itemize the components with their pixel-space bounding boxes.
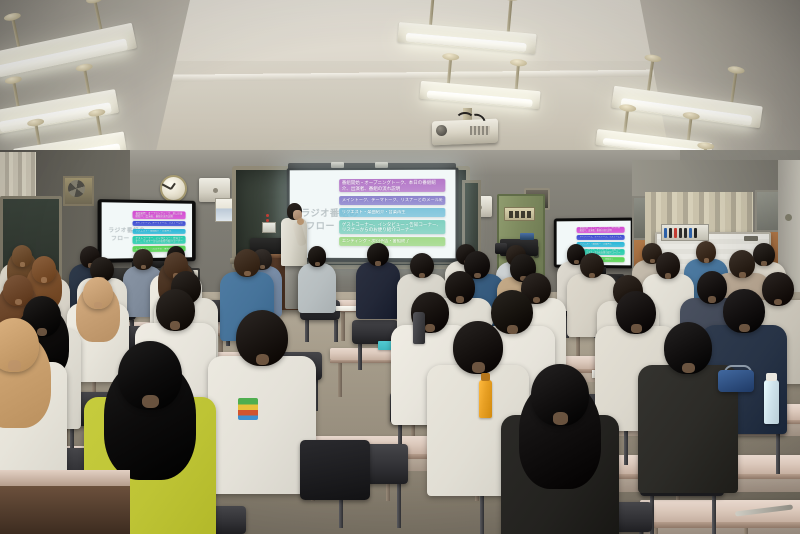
person-neck	[708, 296, 716, 303]
foreground-desk-edge	[0, 470, 130, 486]
chair-leg	[358, 344, 362, 370]
person-neck	[631, 324, 641, 333]
backpack	[300, 440, 370, 500]
person-neck	[94, 302, 102, 308]
person-neck	[425, 324, 435, 332]
person-neck	[20, 262, 25, 266]
person-neck	[315, 262, 320, 266]
desk-leg	[338, 360, 342, 397]
chair-leg	[624, 428, 628, 465]
person-neck	[665, 273, 671, 278]
person-neck	[375, 261, 381, 266]
person-neck	[739, 272, 746, 278]
person-neck	[474, 273, 481, 279]
chair-leg	[776, 434, 780, 474]
water-bottle-cap	[766, 373, 777, 381]
orange-drink-bottle	[479, 380, 492, 418]
blue-pouch	[718, 370, 754, 392]
person-neck	[472, 362, 485, 373]
person-neck	[170, 321, 180, 329]
person-neck	[574, 260, 579, 264]
foreground-desk-side	[0, 486, 130, 534]
person-neck	[761, 261, 767, 266]
person-neck	[260, 265, 265, 269]
dark-tumbler	[413, 312, 425, 344]
chair-leg	[397, 484, 401, 528]
person-neck	[8, 360, 21, 371]
water-bottle	[764, 380, 779, 424]
classroom-photo: ラジオ番組のフロー番組開始・オープニングトーク、本日の番組紹介、出演者、番組の流…	[0, 0, 800, 534]
desk-edge	[640, 522, 800, 528]
audience-area	[0, 0, 800, 534]
person-neck	[456, 296, 464, 303]
person-neck	[589, 273, 595, 278]
person-neck	[37, 328, 47, 336]
person-torso	[356, 262, 400, 319]
person-neck	[142, 395, 159, 409]
person-neck	[553, 412, 568, 424]
chair-leg	[480, 492, 484, 534]
person-torso	[298, 263, 337, 313]
person-neck	[41, 277, 47, 282]
orange-drink-bottle-cap	[481, 373, 490, 381]
person-neck	[141, 265, 146, 269]
desk-leg	[341, 309, 345, 341]
chair-leg	[305, 320, 309, 342]
person-neck	[507, 325, 518, 334]
chair-leg	[334, 320, 338, 342]
person-neck	[650, 259, 655, 263]
person-neck	[682, 363, 695, 373]
person-neck	[704, 258, 709, 262]
person-neck	[256, 354, 270, 365]
person-neck	[244, 271, 251, 277]
pen-case	[238, 398, 258, 420]
chair-leg	[712, 496, 716, 534]
person-neck	[739, 324, 750, 333]
person-neck	[419, 273, 425, 278]
